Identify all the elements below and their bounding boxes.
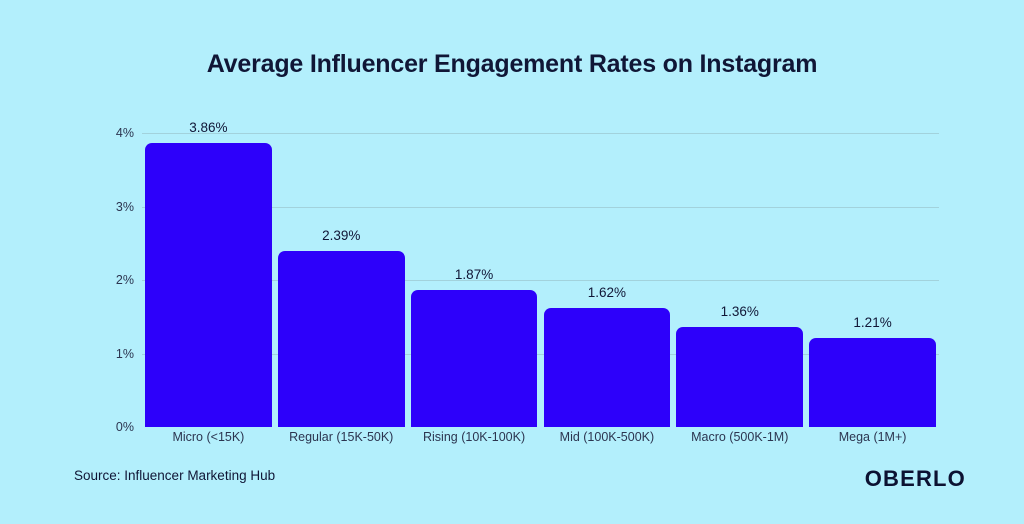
bar[interactable] (676, 327, 803, 427)
bar[interactable] (278, 251, 405, 427)
y-axis-tick-label: 4% (94, 126, 134, 140)
x-axis-tick-label: Macro (500K-1M) (673, 430, 806, 444)
source-note: Source: Influencer Marketing Hub (74, 468, 275, 483)
bar[interactable] (411, 290, 538, 427)
y-axis-tick-label: 0% (94, 420, 134, 434)
bar-value-label: 1.62% (541, 285, 674, 300)
y-axis-tick-labels: 0%1%2%3%4% (88, 133, 134, 427)
x-axis-tick-label: Mega (1M+) (806, 430, 939, 444)
bar[interactable] (544, 308, 671, 427)
bar-slot: 2.39% (275, 133, 408, 427)
bar-value-label: 2.39% (275, 228, 408, 243)
x-axis-tick-label: Mid (100K-500K) (541, 430, 674, 444)
bar-slot: 1.36% (673, 133, 806, 427)
y-axis-tick-label: 3% (94, 200, 134, 214)
oberlo-logo: OBERLO (865, 466, 966, 492)
x-axis-tick-labels: Micro (<15K)Regular (15K-50K)Rising (10K… (142, 430, 939, 450)
bar-value-label: 3.86% (142, 120, 275, 135)
chart-infographic: Average Influencer Engagement Rates on I… (0, 0, 1024, 524)
bar-series: 3.86%2.39%1.87%1.62%1.36%1.21% (142, 133, 939, 427)
bar-slot: 3.86% (142, 133, 275, 427)
bar-value-label: 1.87% (408, 267, 541, 282)
page-title: Average Influencer Engagement Rates on I… (0, 50, 1024, 79)
bar-slot: 1.62% (541, 133, 674, 427)
x-axis-tick-label: Regular (15K-50K) (275, 430, 408, 444)
y-axis-tick-label: 2% (94, 273, 134, 287)
x-axis-tick-label: Micro (<15K) (142, 430, 275, 444)
y-axis-tick-label: 1% (94, 347, 134, 361)
bar[interactable] (809, 338, 936, 427)
bar-slot: 1.21% (806, 133, 939, 427)
bar-value-label: 1.21% (806, 315, 939, 330)
x-axis-tick-label: Rising (10K-100K) (408, 430, 541, 444)
bar[interactable] (145, 143, 272, 427)
bar-slot: 1.87% (408, 133, 541, 427)
bar-value-label: 1.36% (673, 304, 806, 319)
